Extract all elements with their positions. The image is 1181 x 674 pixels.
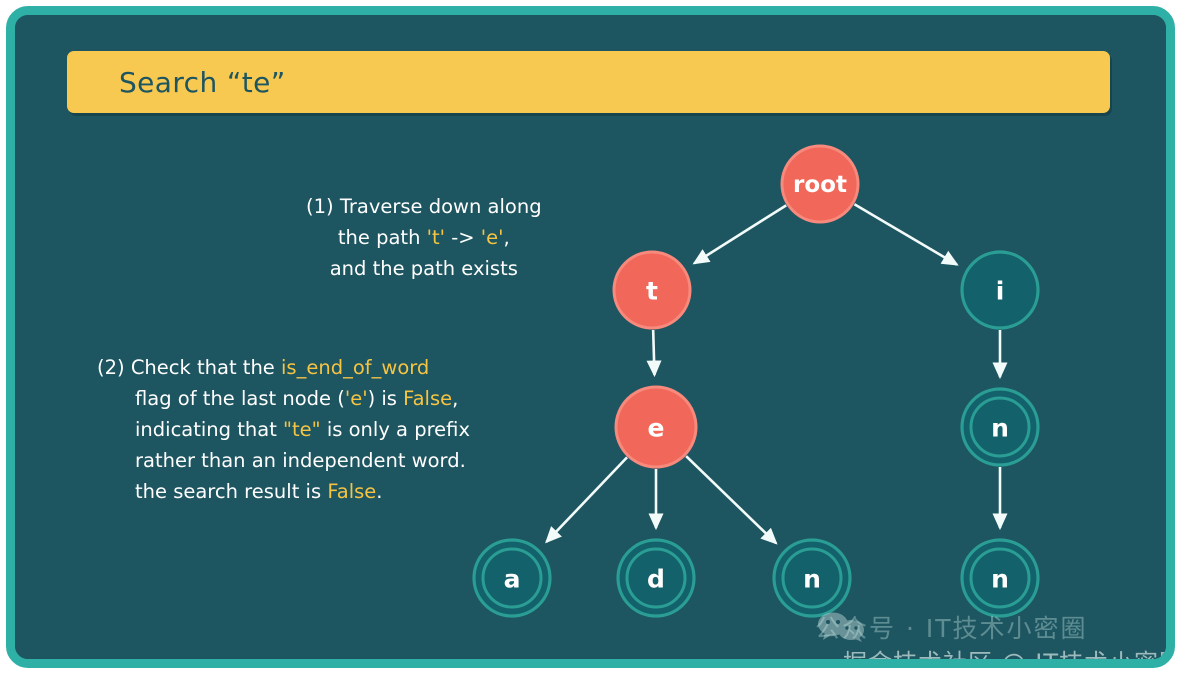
tree-node-d[interactable]: d [618,540,694,616]
tree-edge-root-i [854,204,956,264]
tree-edge-t-e [653,330,654,375]
tree-node-root[interactable]: root [782,146,858,222]
tree-edge-e-n2 [686,456,776,543]
node-label: n [991,414,1009,443]
node-label: t [646,277,658,306]
node-label: e [648,414,665,443]
slide-root: Search “te” (1) Traverse down alongthe p… [0,0,1181,674]
tree-edge-root-t [694,205,786,263]
node-label: n [991,565,1009,594]
node-label: n [803,565,821,594]
tree-node-a[interactable]: a [474,540,550,616]
slide-frame: Search “te” (1) Traverse down alongthe p… [6,6,1175,668]
node-label: a [504,565,521,594]
tree-edge-layer [547,204,1000,543]
tree-node-e[interactable]: e [616,387,696,467]
tree-node-layer: roottienadnn [474,146,1038,616]
tree-node-n3[interactable]: n [962,540,1038,616]
wechat-icon [817,612,869,642]
node-label: root [793,172,847,198]
slide-canvas: Search “te” (1) Traverse down alongthe p… [15,15,1166,659]
tree-node-n1[interactable]: n [962,389,1038,465]
tree-node-t[interactable]: t [614,252,690,328]
trie-tree-diagram: roottienadnn [15,15,1175,668]
tree-node-n2[interactable]: n [774,540,850,616]
tree-node-i[interactable]: i [962,252,1038,328]
node-label: i [996,277,1005,306]
tree-edge-e-a [547,457,628,541]
node-label: d [647,565,665,594]
